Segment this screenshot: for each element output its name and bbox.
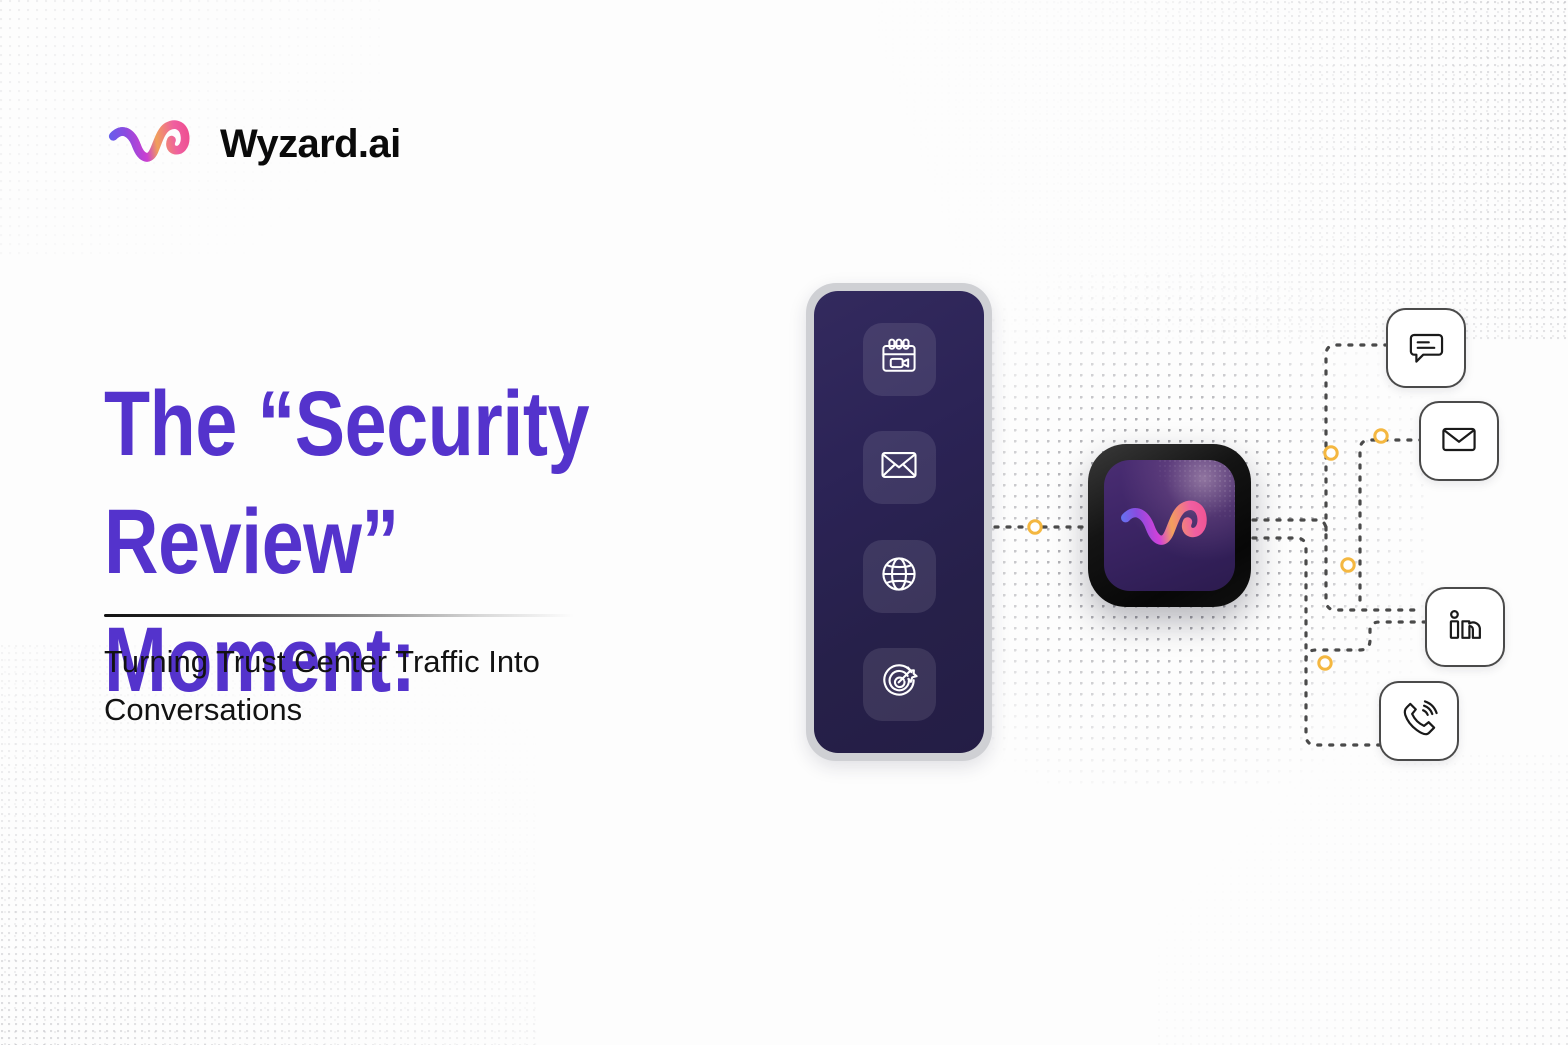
channel-panel-body: [814, 291, 984, 753]
wire-node-upper: [1325, 447, 1337, 459]
page-subtitle: Turning Trust Center Traffic Into Conver…: [104, 638, 664, 734]
channel-panel: [806, 283, 992, 761]
globe-icon: [877, 552, 921, 601]
wire-node-center: [1029, 521, 1041, 533]
target-icon: [877, 660, 921, 709]
title-divider: [104, 614, 574, 617]
envelope-icon: [1437, 417, 1481, 466]
calendar-video-icon: [877, 335, 921, 384]
brand-name: Wyzard.ai: [220, 122, 401, 167]
background-grain-top-right: [878, 0, 1568, 340]
brand-logo: Wyzard.ai: [106, 113, 401, 175]
linkedin-icon: [1443, 603, 1487, 652]
background-grain-bottom-right: [1158, 755, 1568, 1045]
output-item-email[interactable]: [1419, 401, 1499, 481]
channel-item-targeting[interactable]: [863, 648, 936, 721]
channel-item-meeting-scheduling[interactable]: [863, 323, 936, 396]
channel-item-email[interactable]: [863, 431, 936, 504]
wire-node-email: [1375, 430, 1387, 442]
envelope-icon: [877, 443, 921, 492]
phone-call-icon: [1397, 697, 1441, 746]
output-item-phone[interactable]: [1379, 681, 1459, 761]
wyzard-app-screen: [1104, 460, 1235, 591]
wyzard-app-tile[interactable]: [1088, 444, 1251, 607]
wyzard-wave-logo-icon: [106, 113, 204, 175]
chat-bubble-icon: [1404, 324, 1448, 373]
output-item-chat[interactable]: [1386, 308, 1466, 388]
wire-node-mid: [1342, 559, 1354, 571]
slide-canvas: Wyzard.ai The “Security Review” Moment: …: [0, 0, 1568, 1045]
output-item-linkedin[interactable]: [1425, 587, 1505, 667]
wire-node-lower: [1319, 657, 1331, 669]
channel-item-web[interactable]: [863, 540, 936, 613]
